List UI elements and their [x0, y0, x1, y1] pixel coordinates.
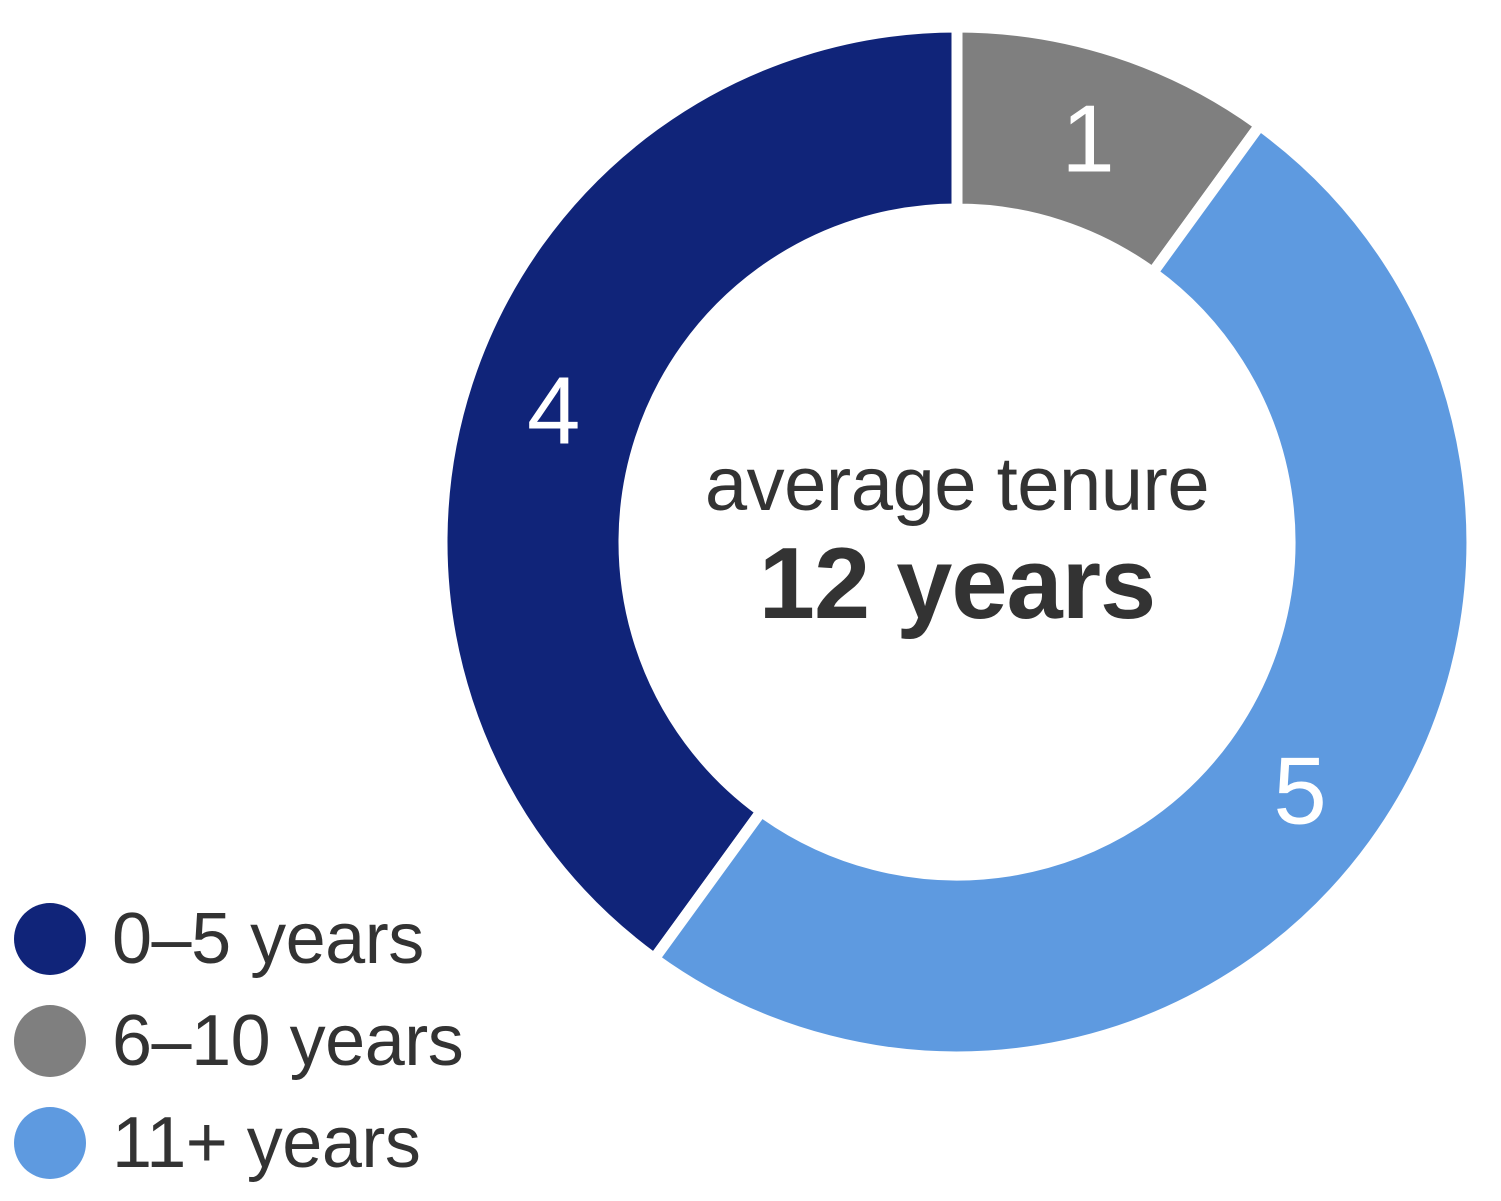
legend-label-0-5-years: 0–5 years: [112, 903, 424, 975]
legend-label-11-plus-years: 11+ years: [112, 1107, 420, 1179]
donut-slice-value-6-10-years: 1: [1061, 85, 1114, 192]
legend-swatch-light-blue-icon: [14, 1107, 86, 1179]
legend-swatch-gray-icon: [14, 1005, 86, 1077]
chart-legend: 0–5 years 6–10 years 11+ years: [14, 899, 463, 1183]
legend-item-11-plus-years[interactable]: 11+ years: [14, 1103, 463, 1183]
legend-label-6-10-years: 6–10 years: [112, 1005, 463, 1077]
donut-slice-0-5-years[interactable]: [442, 27, 957, 959]
legend-item-0-5-years[interactable]: 0–5 years: [14, 899, 463, 979]
legend-item-6-10-years[interactable]: 6–10 years: [14, 1001, 463, 1081]
donut-slice-value-0-5-years: 4: [527, 357, 580, 464]
tenure-donut-chart: 4 1 5 average tenure 12 years 0–5 years …: [0, 0, 1501, 1201]
legend-swatch-navy-icon: [14, 903, 86, 975]
donut-slice-value-11-plus-years: 5: [1273, 738, 1326, 845]
